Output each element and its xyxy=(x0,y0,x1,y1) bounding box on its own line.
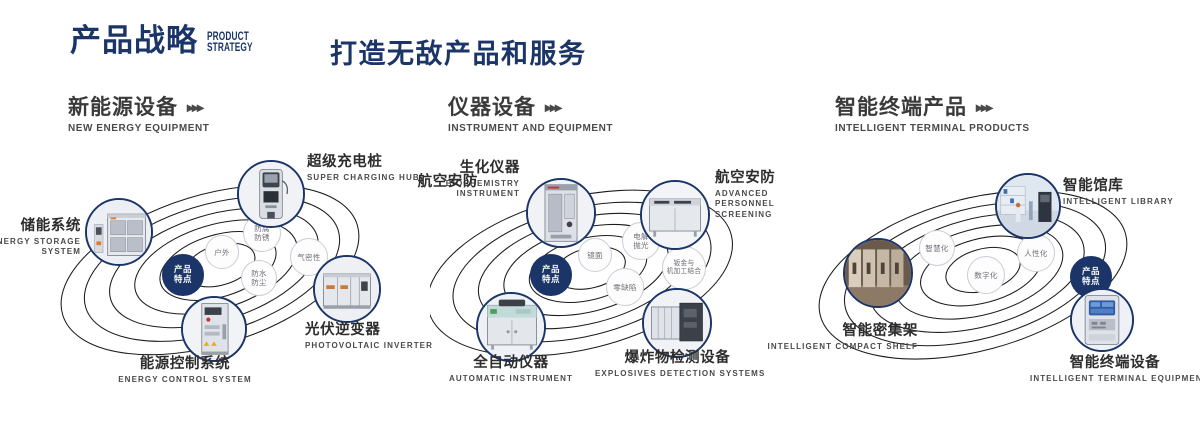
node-label-en: ENERGY STORAGE SYSTEM xyxy=(0,237,81,259)
node-photovoltaic-inverter[interactable] xyxy=(313,255,381,323)
node-label-cn: 爆炸物检测设备 xyxy=(595,350,760,367)
feature-bubble-humanized: 人性化 xyxy=(1017,234,1055,272)
page-title-en-line2: STRATEGY xyxy=(207,43,253,55)
feature-core-line2: 特点 xyxy=(542,275,560,285)
section-title-cn: 仪器设备 ▸▸▸ xyxy=(448,96,613,119)
explosives-detector-image xyxy=(644,290,710,356)
label-intelligent-compact-shelf: 智能密集架 INTELLIGENT COMPACT SHELF xyxy=(763,323,918,352)
node-label-en: INTELLIGENT TERMINAL EQUIPMENT xyxy=(1030,374,1200,385)
page-title-en-line1: PRODUCT xyxy=(207,32,253,44)
page-title-en: PRODUCT STRATEGY xyxy=(207,32,253,55)
page-title-cn: 产品战略 xyxy=(70,26,198,57)
node-label-cn: 航空安防 xyxy=(715,170,807,187)
page-slogan: 打造无敌产品和服务 xyxy=(330,32,587,71)
node-super-charging-hub[interactable] xyxy=(237,160,305,228)
label-explosives-detection-systems: 爆炸物检测设备 EXPLOSIVES DETECTION SYSTEMS xyxy=(595,350,760,379)
feature-core-line1: 产品 xyxy=(1082,267,1100,277)
node-label-en: ENERGY CONTROL SYSTEM xyxy=(85,375,285,386)
section-title-intelligent: 智能终端产品 ▸▸▸ INTELLIGENT TERMINAL PRODUCTS xyxy=(835,96,1030,134)
feature-bubble-sheetmetal-machining: 钣金与 机加工结合 xyxy=(662,246,706,290)
section-title-cn-text: 仪器设备 xyxy=(448,96,536,119)
label-aviation-security-left: 航空安防 xyxy=(388,174,478,191)
feature-core-line1: 产品 xyxy=(174,265,192,275)
label-energy-control-system: 能源控制系统 ENERGY CONTROL SYSTEM xyxy=(85,356,285,385)
automatic-analyzer-image xyxy=(478,294,544,360)
feature-line1: 零缺陷 xyxy=(613,283,636,292)
section-title-en: INSTRUMENT AND EQUIPMENT xyxy=(448,123,613,134)
label-intelligent-library: 智能馆库 INTELLIGENT LIBRARY xyxy=(1063,178,1174,207)
node-energy-control-system[interactable] xyxy=(181,296,247,362)
node-intelligent-terminal-equipment[interactable] xyxy=(1070,288,1134,352)
feature-core-line2: 特点 xyxy=(1082,277,1100,287)
node-energy-storage-system[interactable] xyxy=(85,198,153,266)
control-cabinet-image xyxy=(183,298,245,360)
node-label-en: PHOTOVOLTAIC INVERTER xyxy=(305,341,433,352)
chevron-right-icon: ▸▸▸ xyxy=(976,100,991,115)
node-advanced-personnel-screening[interactable] xyxy=(640,180,710,250)
feature-line1: 人性化 xyxy=(1024,249,1047,258)
node-label-en: ADVANCED PERSONNEL SCREENING xyxy=(715,189,807,221)
node-biochemistry-instrument[interactable] xyxy=(526,178,596,248)
section-title-en: NEW ENERGY EQUIPMENT xyxy=(68,123,209,134)
node-intelligent-library[interactable] xyxy=(995,173,1061,239)
node-intelligent-compact-shelf[interactable] xyxy=(843,238,913,308)
node-label-cn: 全自动仪器 xyxy=(426,355,596,372)
node-label-en: INTELLIGENT COMPACT SHELF xyxy=(763,342,918,353)
library-interior-image xyxy=(997,175,1059,237)
inverter-cabinet-image xyxy=(315,257,379,321)
cluster-intelligent: 智慧化 数字化 人性化 产品 特点 xyxy=(815,160,1190,385)
section-title-cn: 智能终端产品 ▸▸▸ xyxy=(835,96,1030,119)
node-label-cn: 智能终端设备 xyxy=(1030,355,1200,372)
feature-line1: 镜面 xyxy=(587,251,603,260)
label-intelligent-terminal-equipment: 智能终端设备 INTELLIGENT TERMINAL EQUIPMENT xyxy=(1030,355,1200,384)
section-title-new-energy: 新能源设备 ▸▸▸ NEW ENERGY EQUIPMENT xyxy=(68,96,209,134)
feature-line2: 机加工结合 xyxy=(667,268,701,276)
section-title-cn: 新能源设备 ▸▸▸ xyxy=(68,96,209,119)
node-label-cn: 能源控制系统 xyxy=(85,356,285,373)
chevron-right-icon: ▸▸▸ xyxy=(187,100,202,115)
node-label-cn: 航空安防 xyxy=(388,174,478,191)
node-label-cn: 光伏逆变器 xyxy=(305,322,433,339)
node-label-en: EXPLOSIVES DETECTION SYSTEMS xyxy=(595,369,760,380)
feature-line1: 智慧化 xyxy=(925,244,948,253)
screening-machine-image xyxy=(642,182,708,248)
feature-bubble-smart: 智慧化 xyxy=(919,230,955,266)
feature-bubble-digital: 数字化 xyxy=(967,256,1005,294)
feature-bubble-outdoor: 户外 xyxy=(205,235,239,269)
node-label-cn: 储能系统 xyxy=(0,218,81,235)
compact-shelf-image xyxy=(845,240,911,306)
node-label-en: INTELLIGENT LIBRARY xyxy=(1063,197,1174,208)
feature-bubble-zero-defect: 零缺陷 xyxy=(606,268,644,306)
cluster-new-energy: 产品 特点 户外 防腐 防锈 气密性 防水 防尘 xyxy=(55,150,415,380)
feature-core-instrument: 产品 特点 xyxy=(530,254,572,296)
node-label-cn: 超级充电桩 xyxy=(307,154,420,171)
node-label-cn: 智能馆库 xyxy=(1063,178,1174,195)
product-strategy-infographic: 产品战略 PRODUCT STRATEGY 打造无敌产品和服务 新能源设备 ▸▸… xyxy=(0,0,1200,422)
label-automatic-instrument: 全自动仪器 AUTOMATIC INSTRUMENT xyxy=(426,355,596,384)
biochemistry-analyzer-image xyxy=(528,180,594,246)
section-title-en: INTELLIGENT TERMINAL PRODUCTS xyxy=(835,123,1030,134)
feature-bubble-waterproof: 防水 防尘 xyxy=(241,260,277,296)
section-title-cn-text: 智能终端产品 xyxy=(835,96,967,119)
label-energy-storage-system: 储能系统 ENERGY STORAGE SYSTEM xyxy=(0,218,81,258)
node-explosives-detection-systems[interactable] xyxy=(642,288,712,358)
node-label-cn: 智能密集架 xyxy=(763,323,918,340)
feature-core-line1: 产品 xyxy=(542,265,560,275)
terminal-kiosk-image xyxy=(1072,290,1132,350)
label-advanced-personnel-screening: 航空安防 ADVANCED PERSONNEL SCREENING xyxy=(715,170,807,221)
feature-line2: 防锈 xyxy=(254,233,270,242)
charging-pile-image xyxy=(239,162,303,226)
cluster-instrument: 产品 特点 镜面 电解 抛光 钣金与 机加工结合 零缺陷 xyxy=(430,150,800,380)
feature-line2: 防尘 xyxy=(251,278,267,287)
feature-line1: 户外 xyxy=(214,248,230,257)
page-header: 产品战略 PRODUCT STRATEGY xyxy=(70,26,270,57)
node-label-en: AUTOMATIC INSTRUMENT xyxy=(426,374,596,385)
section-title-cn-text: 新能源设备 xyxy=(68,96,178,119)
feature-line1: 数字化 xyxy=(974,271,997,280)
feature-core-line2: 特点 xyxy=(174,275,192,285)
energy-storage-cabinet-image xyxy=(87,200,151,264)
node-automatic-instrument[interactable] xyxy=(476,292,546,362)
label-photovoltaic-inverter: 光伏逆变器 PHOTOVOLTAIC INVERTER xyxy=(305,322,433,351)
section-title-instrument: 仪器设备 ▸▸▸ INSTRUMENT AND EQUIPMENT xyxy=(448,96,613,134)
feature-core-new-energy: 产品 特点 xyxy=(162,254,204,296)
chevron-right-icon: ▸▸▸ xyxy=(545,100,560,115)
feature-line1: 防水 xyxy=(251,269,267,278)
